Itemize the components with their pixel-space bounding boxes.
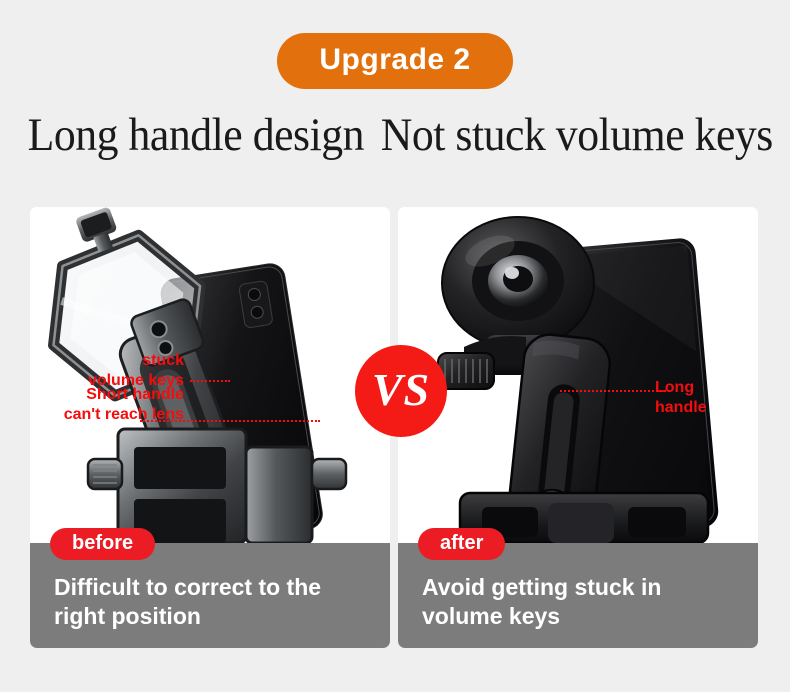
vs-label: VS <box>372 367 430 413</box>
product-photo-after: HUAWEI <box>398 207 758 543</box>
annotation-stuck-line1: stuck <box>64 351 184 371</box>
annotation-short-handle: Short handle can't reach lens <box>10 385 184 425</box>
annotation-long-line2: handle <box>655 398 765 418</box>
caption-after: Avoid getting stuck in volume keys <box>422 573 738 631</box>
panel-after: HUAWEI <box>398 207 758 648</box>
leader-line-short-handle <box>140 420 320 422</box>
caption-before: Difficult to correct to the right positi… <box>54 573 370 631</box>
annotation-short-line1: Short handle <box>10 385 184 405</box>
upgrade-badge: Upgrade 2 <box>277 33 512 89</box>
leader-line-long-handle <box>560 390 670 392</box>
headline-part-2: Not stuck volume keys <box>381 109 773 161</box>
annotation-long-line1: Long <box>655 378 765 398</box>
black-adapter-illustration: HUAWEI <box>398 207 758 543</box>
upgrade-badge-container: Upgrade 2 <box>0 33 790 89</box>
page-headline: Long handle designNot stuck volume keys <box>28 108 763 162</box>
state-badge-after: after <box>418 528 505 560</box>
vs-badge: VS <box>355 345 447 437</box>
headline-part-1: Long handle design <box>28 109 364 161</box>
annotation-long-handle: Long handle <box>655 378 765 418</box>
leader-line-stuck-volume-keys <box>190 380 230 382</box>
state-badge-before: before <box>50 528 155 560</box>
annotation-short-line2: can't reach lens <box>10 405 184 425</box>
panel-before: HUAWEI <box>30 207 390 648</box>
